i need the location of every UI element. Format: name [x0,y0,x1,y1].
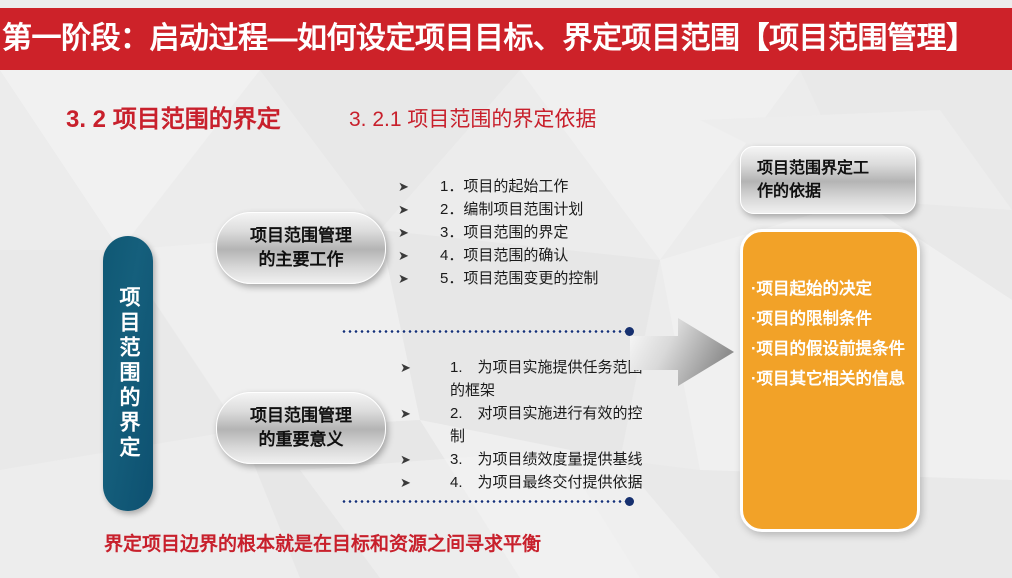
page-subtitle: 3. 2.1 项目范围的界定依据 [349,103,596,133]
pill-main-work-text: 项目范围管理 的主要工作 [250,224,352,272]
pill-main-work: 项目范围管理 的主要工作 [216,212,386,284]
list-item: ➤3．项目范围的界定 [398,221,648,244]
chevron-right-icon: ➤ [400,448,411,471]
pill-basis-line2: 作的依据 [757,180,869,203]
bottom-note: 界定项目边界的根本就是在目标和资源之间寻求平衡 [104,529,541,556]
list-item: ➤4．项目范围的确认 [398,244,648,267]
pill-main-work-line1: 项目范围管理 [250,224,352,248]
chevron-right-icon: ➤ [398,267,409,290]
list-item: 项目的假设前提条件 [751,334,911,364]
chevron-right-icon: ➤ [398,175,409,198]
chevron-right-icon: ➤ [400,471,411,494]
vertical-banner: 项目范围的界定 [103,236,153,511]
pill-importance-text: 项目范围管理 的重要意义 [250,404,352,452]
list-item-label: 2. 对项目实施进行有效的控制 [450,405,643,445]
orange-panel: 项目起始的决定 项目的限制条件 项目的假设前提条件 项目其它相关的信息 [740,229,920,532]
list-item: ➤1. 为项目实施提供任务范围的框架 [398,356,646,402]
list-item: ➤5．项目范围变更的控制 [398,267,648,290]
pill-importance-line1: 项目范围管理 [250,404,352,428]
chevron-right-icon: ➤ [400,356,411,379]
chevron-right-icon: ➤ [400,402,411,425]
list-item-label: 4. 为项目最终交付提供依据 [450,474,643,491]
pill-basis: 项目范围界定工 作的依据 [740,146,916,214]
slide-title: 第一阶段：启动过程—如何设定项目目标、界定项目范围【项目范围管理】 [0,8,976,70]
pill-importance: 项目范围管理 的重要意义 [216,392,386,464]
list-item-label: 5．项目范围变更的控制 [440,270,598,287]
list-importance: ➤1. 为项目实施提供任务范围的框架 ➤2. 对项目实施进行有效的控制 ➤3. … [398,356,646,494]
pill-main-work-line2: 的主要工作 [250,248,352,272]
pill-basis-line1: 项目范围界定工 [757,157,869,180]
list-item: 项目其它相关的信息 [751,364,911,394]
list-item-label: 2．编制项目范围计划 [440,201,583,218]
list-item-label: 1. 为项目实施提供任务范围的框架 [450,359,643,399]
list-item-label: 3. 为项目绩效度量提供基线 [450,451,643,468]
list-item: ➤2．编制项目范围计划 [398,198,648,221]
pill-basis-text: 项目范围界定工 作的依据 [757,157,869,203]
slide-canvas: 第一阶段：启动过程—如何设定项目目标、界定项目范围【项目范围管理】 3. 2 项… [0,0,1012,578]
pill-importance-line2: 的重要意义 [250,428,352,452]
list-item: ➤3. 为项目绩效度量提供基线 [398,448,646,471]
connector-line-top [341,330,628,333]
list-item-label: 3．项目范围的界定 [440,224,568,241]
list-item: ➤2. 对项目实施进行有效的控制 [398,402,646,448]
connector-endpoint-bottom [625,497,634,506]
list-item: ➤4. 为项目最终交付提供依据 [398,471,646,494]
chevron-right-icon: ➤ [398,244,409,267]
list-main-work: ➤1．项目的起始工作 ➤2．编制项目范围计划 ➤3．项目范围的界定 ➤4．项目范… [398,175,648,290]
list-item: 项目的限制条件 [751,304,911,334]
list-item: ➤1．项目的起始工作 [398,175,648,198]
chevron-right-icon: ➤ [398,221,409,244]
list-item: 项目起始的决定 [751,274,911,304]
chevron-right-icon: ➤ [398,198,409,221]
list-item-label: 4．项目范围的确认 [440,247,568,264]
connector-line-bottom [341,500,628,503]
vertical-banner-label: 项目范围的界定 [103,236,153,511]
page-title: 3. 2 项目范围的界定 [66,99,281,134]
list-item-label: 1．项目的起始工作 [440,178,568,195]
title-banner: 第一阶段：启动过程—如何设定项目目标、界定项目范围【项目范围管理】 [0,8,1012,70]
orange-panel-list: 项目起始的决定 项目的限制条件 项目的假设前提条件 项目其它相关的信息 [751,274,911,394]
